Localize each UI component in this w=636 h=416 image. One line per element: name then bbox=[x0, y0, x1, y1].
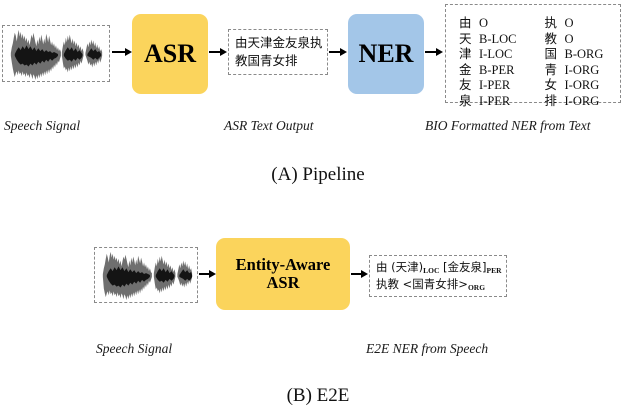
bio-row: 由 O bbox=[459, 12, 517, 28]
bio-tag: I-ORG bbox=[565, 94, 600, 109]
speech-signal-box-b bbox=[94, 247, 198, 303]
e2e-entity-per-tag: PER bbox=[487, 266, 502, 275]
caption-e2e-ner-output: E2E NER from Speech bbox=[366, 341, 488, 357]
e2e-entity-loc-tag: LOC bbox=[423, 266, 439, 275]
caption-speech-signal-a: Speech Signal bbox=[4, 118, 80, 134]
bio-tag: I-PER bbox=[479, 94, 510, 109]
subfigure-title-b: (B) E2E bbox=[0, 385, 636, 407]
asr-text-output-box: 由天津金友泉执 教国青女排 bbox=[228, 29, 328, 75]
entity-aware-asr-label-line2: ASR bbox=[266, 274, 299, 292]
arrow-head bbox=[209, 270, 216, 278]
bio-char: 泉 bbox=[459, 90, 479, 109]
bio-row: 金 B-PER bbox=[459, 59, 517, 75]
bio-char: 排 bbox=[545, 90, 565, 109]
bio-row: 女 I-ORG bbox=[545, 74, 604, 90]
arrow-shaft bbox=[425, 51, 436, 53]
speech-signal-box-a bbox=[2, 25, 110, 82]
bio-output-box: 由 O 天 B-LOC 津 I-LOC 金 B-PER 友 I-PER bbox=[445, 4, 621, 103]
caption-bio-ner-output: BIO Formatted NER from Text bbox=[425, 118, 591, 134]
bio-row: 津 I-LOC bbox=[459, 43, 517, 59]
bio-row: 执 O bbox=[545, 12, 604, 28]
bio-row: 国 B-ORG bbox=[545, 43, 604, 59]
bio-column-right: 执 O 教 O 国 B-ORG 青 I-ORG 女 I-ORG bbox=[545, 12, 604, 106]
bio-row: 青 I-ORG bbox=[545, 59, 604, 75]
figure-canvas: ASR 由天津金友泉执 教国青女排 NER 由 O 天 B bbox=[0, 0, 636, 416]
arrow-head bbox=[340, 48, 347, 56]
caption-asr-text-output: ASR Text Output bbox=[224, 118, 314, 134]
bio-table: 由 O 天 B-LOC 津 I-LOC 金 B-PER 友 I-PER bbox=[459, 12, 603, 106]
bio-row: 教 O bbox=[545, 28, 604, 44]
arrow-head bbox=[436, 48, 443, 56]
arrow-shaft bbox=[112, 51, 125, 53]
arrow-head bbox=[125, 48, 132, 56]
e2e-entity-org-tag: ORG bbox=[468, 283, 485, 292]
asr-text-line-2: 教国青女排 bbox=[235, 52, 298, 70]
arrow-shaft bbox=[199, 273, 209, 275]
waveform-icon-a bbox=[3, 26, 109, 81]
bio-row: 排 I-ORG bbox=[545, 90, 604, 106]
bio-row: 天 B-LOC bbox=[459, 28, 517, 44]
asr-box[interactable]: ASR bbox=[132, 14, 208, 94]
arrow-head bbox=[220, 48, 227, 56]
bio-row: 友 I-PER bbox=[459, 74, 517, 90]
asr-text-line-1: 由天津金友泉执 bbox=[235, 34, 323, 52]
entity-aware-asr-box[interactable]: Entity-Aware ASR bbox=[216, 238, 350, 310]
bio-column-left: 由 O 天 B-LOC 津 I-LOC 金 B-PER 友 I-PER bbox=[459, 12, 517, 106]
waveform-icon-b bbox=[95, 248, 197, 302]
arrow-shaft bbox=[329, 51, 340, 53]
e2e-entity-org-text: 执教 <国青女排> bbox=[376, 277, 468, 291]
arrow-shaft bbox=[351, 273, 361, 275]
e2e-entity-per-text: [金友泉] bbox=[439, 260, 486, 274]
e2e-output-box: 由 (天津)LOC [金友泉]PER 执教 <国青女排>ORG bbox=[369, 255, 507, 297]
arrow-head bbox=[361, 270, 368, 278]
e2e-entity-loc-text: 由 (天津) bbox=[376, 260, 423, 274]
arrow-shaft bbox=[209, 51, 220, 53]
entity-aware-asr-label-line1: Entity-Aware bbox=[236, 256, 331, 274]
bio-row: 泉 I-PER bbox=[459, 90, 517, 106]
e2e-output-line-2: 执教 <国青女排>ORG bbox=[376, 276, 485, 294]
subfigure-title-a: (A) Pipeline bbox=[0, 164, 636, 186]
caption-speech-signal-b: Speech Signal bbox=[96, 341, 172, 357]
e2e-output-line-1: 由 (天津)LOC [金友泉]PER bbox=[376, 259, 502, 277]
ner-box[interactable]: NER bbox=[348, 14, 424, 94]
